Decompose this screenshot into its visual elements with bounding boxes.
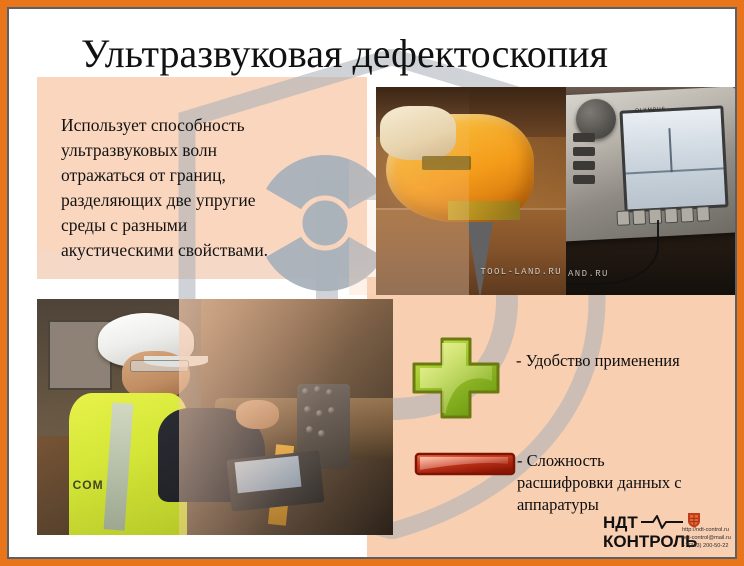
slide-title: Ультразвуковая дефектоскопия [81,31,721,77]
keypad-buttons [571,133,615,216]
tool-handle [448,201,520,220]
footer-branding: НДТ КОНТРОЛЬ http://ndt-control.ru ndt-c… [603,512,735,557]
inspector-hand [236,400,279,428]
olympus-flaw-detector-photo: OLYMPUS AND.RU [566,87,735,295]
con-item-text: - Сложность расшифровки данных с аппарат… [517,450,717,516]
contact-details: http://ndt-control.ru ndt-control@mail.r… [682,526,735,551]
minus-icon [413,451,517,477]
contact-email[interactable]: ndt-control@mail.ru [682,534,735,542]
description-line: Использует способность [61,113,351,138]
description-line: отражаться от границ, [61,163,351,188]
detector-screen [619,105,728,212]
glove-cuff [380,106,456,160]
description-line: акустическими свойствами. [61,238,351,263]
waveform-icon [641,514,683,530]
description-line: ультразвуковых волн [61,138,351,163]
safety-glasses [130,360,189,371]
photo-watermark-text: AND.RU [568,269,609,279]
ndt-control-logo[interactable]: НДТ КОНТРОЛЬ [603,512,681,557]
slide-canvas: Ультразвуковая дефектоскопия Использует … [9,9,735,557]
description-line: среды с разными [61,213,351,238]
glove-on-wood-photo: TOOL-LAND.RU [376,87,566,295]
con-line: расшифровки данных с [517,472,717,494]
plus-icon [408,335,504,421]
glove-label [422,156,471,171]
ascan-baseline [625,168,723,175]
con-line: - Сложность [517,450,717,472]
vest-logo-text: COM [73,478,104,492]
description-text: Использует способность ультразвуковых во… [61,113,351,263]
logo-line-ndt: НДТ [603,513,638,533]
olympus-brand-label: OLYMPUS [635,106,666,114]
inspector-at-pipe-photo: COM [37,299,393,535]
pro-item-text: - Удобство применения [516,350,735,372]
ascan-echo-spike [668,128,672,172]
contact-website[interactable]: http://ndt-control.ru [682,526,735,534]
contact-phone: +7(343) 200-50-22 [682,542,735,550]
description-line: разделяющих две упругие [61,188,351,213]
presentation-slide: Ультразвуковая дефектоскопия Использует … [0,0,744,566]
photo-watermark-text: TOOL-LAND.RU [480,267,562,277]
